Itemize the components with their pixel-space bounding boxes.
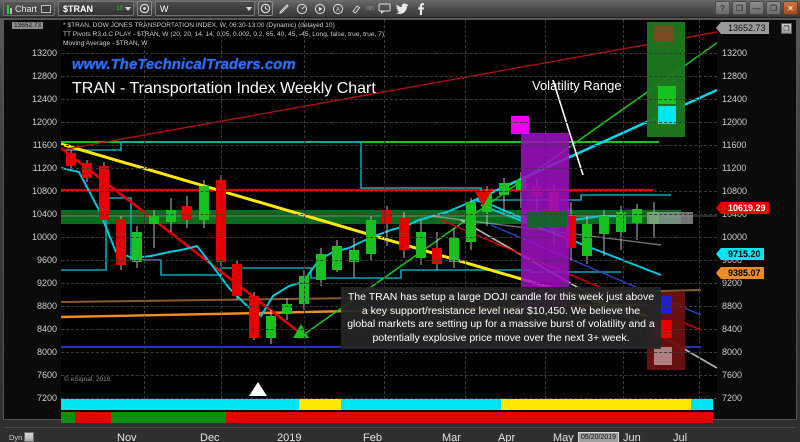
restore-button[interactable]: ❐ [732, 1, 747, 15]
candle [132, 226, 142, 268]
candle [499, 178, 509, 212]
candle [332, 240, 342, 272]
symbol-value: $TRAN [63, 4, 114, 14]
white-triangle-up-marker [248, 381, 268, 397]
box-marker-green [658, 86, 676, 104]
candle [66, 150, 76, 170]
info-line-symbol: * $TRAN, DOW JONES TRANSPORTATION INDEX,… [63, 22, 335, 29]
y-tick: 10000 [722, 232, 747, 242]
symbol-input[interactable]: $TRAN 10 [58, 1, 134, 16]
y-tick: 11600 [33, 140, 57, 150]
last-price-tag: 10619.29 [721, 202, 769, 214]
panel-restore-icon[interactable]: ❐ [781, 23, 792, 34]
candle [316, 248, 326, 286]
x-tick: Apr [498, 432, 515, 442]
symbol-delay-badge: 10 [116, 6, 123, 12]
facebook-icon[interactable] [413, 1, 428, 16]
chart-frame: 13200 12800 12400 12000 11600 11200 1080… [3, 19, 797, 420]
candle [466, 198, 476, 250]
y-tick: 10000 [32, 232, 57, 242]
high-price-tooltip: 13652.73 [12, 22, 43, 29]
info-line-ma: Moving Average - $TRAN, W [63, 40, 148, 47]
candle [599, 210, 609, 256]
y-tick: 9200 [37, 278, 57, 288]
y-tick: 13200 [722, 48, 747, 58]
symbol-search-icon[interactable] [137, 1, 152, 16]
minimize-button[interactable]: — [749, 1, 764, 15]
interval-chevron-down-icon[interactable] [246, 7, 252, 11]
candle [166, 198, 176, 232]
candle [249, 292, 259, 340]
y-tick: 12800 [32, 71, 57, 81]
window-controls: ? ❐ — ❐ ✕ [715, 1, 798, 15]
page-title: TRAN - Transportation Index Weekly Chart [72, 80, 376, 98]
chart-menu-button[interactable]: Chart [3, 1, 55, 16]
dyn-settings-icon[interactable] [24, 432, 34, 442]
toolbar: Chart $TRAN 10 W A [0, 0, 800, 18]
interval-input[interactable]: W [155, 1, 255, 16]
y-tick: 8400 [37, 324, 57, 334]
eraser-icon[interactable] [348, 1, 363, 16]
y-tick: 11600 [722, 140, 746, 150]
candle [399, 212, 409, 258]
y-tick: 8400 [722, 324, 742, 334]
date-axis[interactable]: Dyn Nov Dec 2019 Feb Mar Apr May Jun Jul… [5, 427, 795, 442]
candle [116, 216, 126, 270]
y-tick: 12400 [32, 94, 57, 104]
candle [632, 204, 642, 240]
y-tick: 7600 [37, 370, 57, 380]
chart-application-window: Chart $TRAN 10 W A [0, 0, 800, 442]
y-tick: 12400 [722, 94, 747, 104]
copyright-label: © eSignal, 2019 [64, 376, 110, 383]
comment-icon[interactable] [377, 1, 392, 16]
y-tick: 8000 [37, 347, 57, 357]
y-tick: 13200 [32, 48, 57, 58]
x-tick: Jun [623, 432, 641, 442]
candle [449, 228, 459, 268]
y-tick: 11200 [722, 163, 746, 173]
y-tick: 10400 [32, 209, 57, 219]
y-tick: 8800 [37, 301, 57, 311]
ribbon-bottom [61, 412, 717, 423]
cyan-indicator-tag: 9715.20 [721, 248, 764, 260]
y-tick: 8800 [722, 301, 742, 311]
green-triangle-up [293, 324, 309, 338]
candle [282, 298, 292, 320]
chart-menu-label: Chart [15, 4, 37, 14]
website-label: www.TheTechnicalTraders.com [72, 56, 296, 73]
box-marker-brown [654, 26, 674, 42]
high-price-tag: 13652.73 [721, 22, 769, 34]
speedometer-icon[interactable] [294, 1, 309, 16]
dyn-control[interactable]: Dyn [9, 432, 34, 442]
box-marker-rose [654, 347, 672, 365]
close-button[interactable]: ✕ [783, 1, 798, 15]
x-tick: Dec [200, 432, 220, 442]
svg-text:A: A [336, 7, 340, 13]
x-tick: Feb [363, 432, 382, 442]
candle [366, 216, 376, 260]
chart-badge-icon [40, 1, 51, 16]
downtrend-red [61, 148, 299, 332]
annotation-textbox: The TRAN has setup a large DOJI candle f… [341, 287, 661, 349]
candle [616, 206, 626, 250]
y-tick: 12000 [32, 117, 57, 127]
candle [416, 220, 426, 265]
y-tick: 8000 [722, 347, 742, 357]
interval-clock-icon[interactable] [258, 1, 273, 16]
volatility-range-label: Volatility Range [532, 78, 622, 93]
draw-pencil-icon[interactable] [276, 1, 291, 16]
candle [232, 260, 242, 300]
y-tick: 12800 [722, 71, 747, 81]
chart-icon [7, 4, 12, 14]
y-tick: 7200 [37, 393, 57, 403]
toolbar-separator-label: on [366, 5, 374, 12]
dyn-label: Dyn [9, 433, 22, 442]
magenta-square [511, 116, 529, 134]
y-tick: 10800 [32, 186, 57, 196]
x-tick: Nov [117, 432, 137, 442]
x-tick: Mar [442, 432, 461, 442]
price-axis-left[interactable]: 13200 12800 12400 12000 11600 11200 1080… [4, 20, 61, 399]
help-button[interactable]: ? [715, 1, 730, 15]
x-tick: May [553, 432, 574, 442]
candle [266, 310, 276, 344]
chart-plot-area[interactable]: www.TheTechnicalTraders.com TRAN - Trans… [61, 20, 717, 399]
y-tick: 7200 [722, 393, 742, 403]
annotate-icon[interactable]: A [330, 1, 345, 16]
interval-value: W [160, 4, 246, 14]
info-line-pivots: TT Pivots R3.d.C PLAY - $TRAN, W (20, 20… [63, 31, 384, 38]
twitter-icon[interactable] [395, 1, 410, 16]
y-tick: 9200 [722, 278, 742, 288]
ribbon-top [61, 399, 717, 410]
y-tick: 10800 [722, 186, 747, 196]
x-tick: 2019 [277, 432, 301, 442]
price-axis-right[interactable]: 13200 12800 12400 12000 11600 11200 1080… [717, 20, 796, 399]
play-icon[interactable] [312, 1, 327, 16]
date-tooltip: 05/20/2019 [578, 432, 619, 442]
y-tick: 12000 [722, 117, 747, 127]
y-tick: 11200 [33, 163, 57, 173]
chevron-down-icon[interactable] [125, 7, 131, 11]
y-tick: 7600 [722, 370, 742, 380]
orange-indicator-tag: 9385.07 [721, 267, 764, 279]
x-tick: Jul [673, 432, 687, 442]
y-tick: 9600 [37, 255, 57, 265]
indicator-ribbons [61, 399, 717, 427]
maximize-button[interactable]: ❐ [766, 1, 781, 15]
